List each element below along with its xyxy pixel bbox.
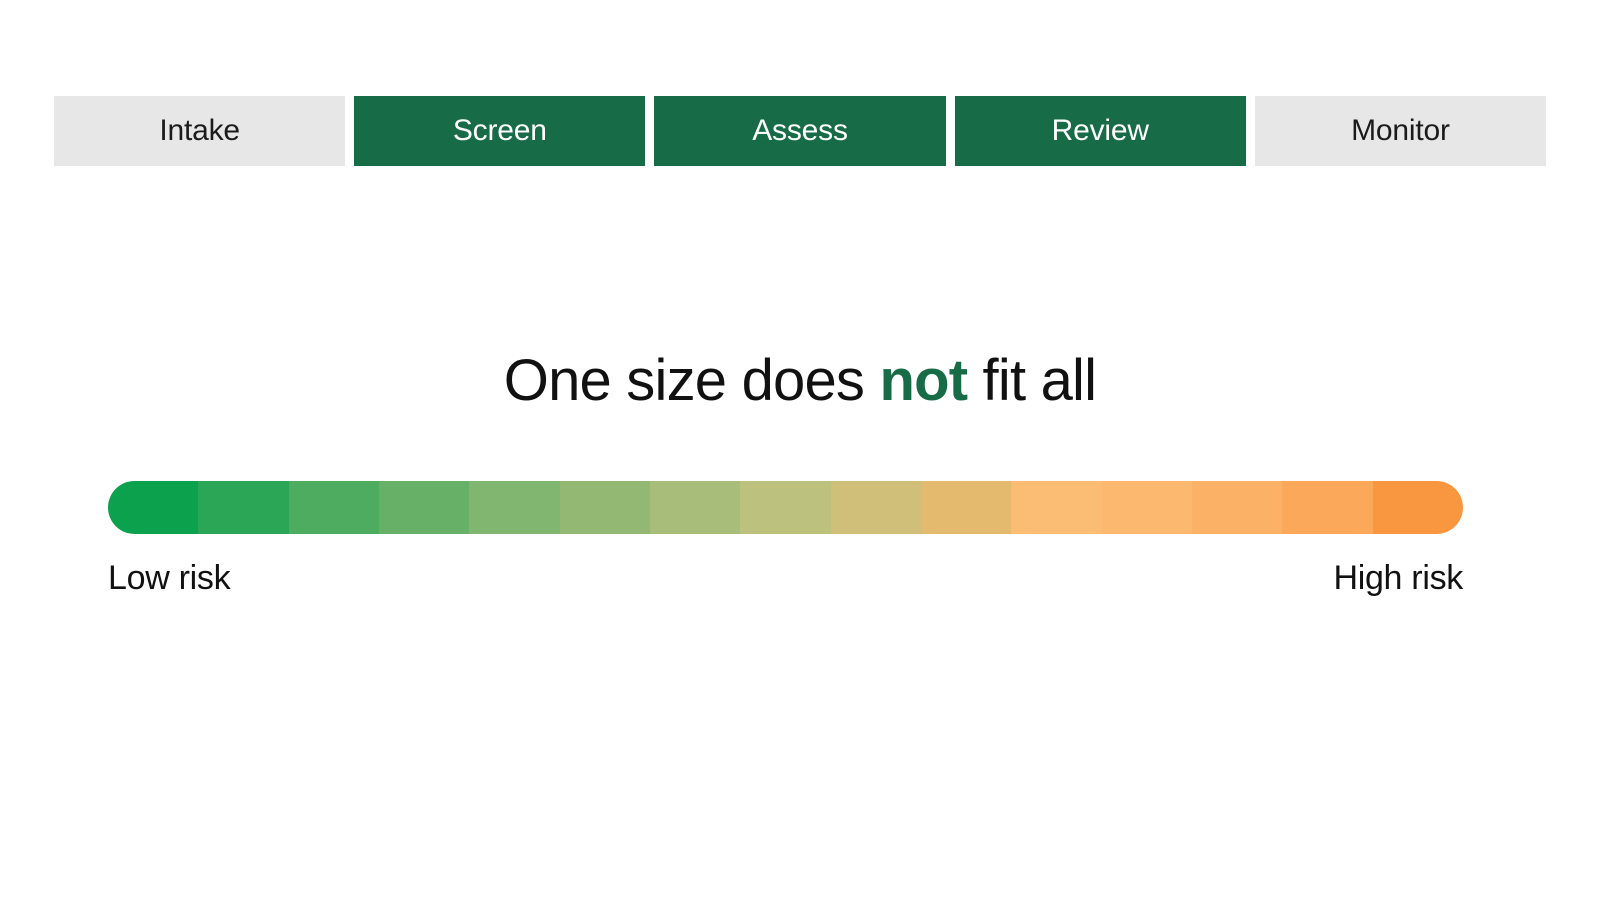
step-label: Review	[1052, 116, 1149, 146]
risk-segment-4[interactable]	[379, 481, 469, 534]
risk-segment-9[interactable]	[831, 481, 921, 534]
risk-segment-1[interactable]	[108, 481, 198, 534]
step-label: Screen	[453, 116, 547, 146]
headline-text-after: fit all	[967, 348, 1096, 413]
risk-label-low: Low risk	[108, 561, 230, 595]
headline-emphasis: not	[879, 348, 967, 413]
risk-segment-6[interactable]	[560, 481, 650, 534]
step-tab-review[interactable]: Review	[955, 96, 1246, 166]
risk-segment-2[interactable]	[198, 481, 288, 534]
step-tab-screen[interactable]: Screen	[354, 96, 645, 166]
risk-scale: Low risk High risk	[108, 481, 1463, 605]
workflow-stepper: Intake Screen Assess Review Monitor	[54, 96, 1546, 166]
step-label: Assess	[752, 116, 848, 146]
step-tab-monitor[interactable]: Monitor	[1255, 96, 1546, 166]
risk-segment-11[interactable]	[1011, 481, 1101, 534]
step-tab-assess[interactable]: Assess	[654, 96, 945, 166]
step-label: Intake	[159, 116, 240, 146]
risk-scale-labels: Low risk High risk	[108, 561, 1463, 605]
risk-segment-14[interactable]	[1282, 481, 1372, 534]
risk-label-high: High risk	[1333, 561, 1463, 595]
page-title: One size does not fit all	[0, 349, 1600, 413]
risk-segment-5[interactable]	[469, 481, 559, 534]
step-tab-intake[interactable]: Intake	[54, 96, 345, 166]
risk-segment-3[interactable]	[289, 481, 379, 534]
risk-gradient-bar[interactable]	[108, 481, 1463, 534]
risk-segment-13[interactable]	[1192, 481, 1282, 534]
risk-segment-8[interactable]	[740, 481, 830, 534]
risk-segment-12[interactable]	[1102, 481, 1192, 534]
risk-segment-7[interactable]	[650, 481, 740, 534]
step-label: Monitor	[1351, 116, 1450, 146]
risk-segment-10[interactable]	[921, 481, 1011, 534]
headline-text-before: One size does	[504, 348, 880, 413]
risk-segment-15[interactable]	[1373, 481, 1463, 534]
